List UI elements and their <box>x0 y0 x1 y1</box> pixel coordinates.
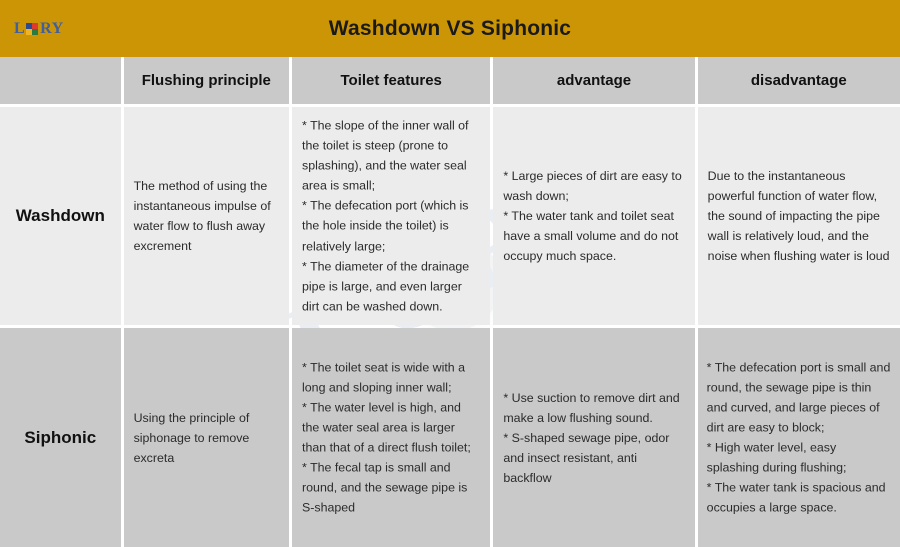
logo-text-right: RY <box>40 19 64 39</box>
row-siphonic-features: * The toilet seat is wide with a long an… <box>292 328 490 547</box>
lory-logo: L RY <box>14 19 64 39</box>
row-washdown-features: * The slope of the inner wall of the toi… <box>292 107 490 325</box>
row-siphonic-advantage: * Use suction to remove dirt and make a … <box>493 328 694 547</box>
row-washdown-principle: The method of using the instantaneous im… <box>124 107 289 325</box>
header-banner: Washdown VS Siphonic L RY <box>0 0 900 57</box>
comparison-table: Flushing principle Toilet features advan… <box>0 57 900 547</box>
table-header-cell-toilet-features: Toilet features <box>292 57 490 104</box>
table-header-cell-flushing-principle: Flushing principle <box>124 57 289 104</box>
table-header-cell-advantage: advantage <box>493 57 694 104</box>
logo-text-left: L <box>14 19 25 39</box>
table-header-cell-disadvantage: disadvantage <box>698 57 900 104</box>
row-washdown-advantage: * Large pieces of dirt are easy to wash … <box>493 107 694 325</box>
table-header-row: Flushing principle Toilet features advan… <box>0 57 900 104</box>
comparison-table-page: Washdown VS Siphonic L RY LORY Flushing … <box>0 0 900 547</box>
logo-mark-icon <box>26 23 39 36</box>
table-row: Washdown The method of using the instant… <box>0 107 900 325</box>
page-title: Washdown VS Siphonic <box>0 0 900 57</box>
row-siphonic-type: Siphonic <box>0 328 121 547</box>
table-header-cell-type <box>0 57 121 104</box>
table-row: Siphonic Using the principle of siphonag… <box>0 328 900 547</box>
row-washdown-disadvantage: Due to the instantaneous powerful functi… <box>698 107 900 325</box>
row-siphonic-principle: Using the principle of siphonage to remo… <box>124 328 289 547</box>
row-siphonic-disadvantage: * The defecation port is small and round… <box>698 328 900 547</box>
row-washdown-type: Washdown <box>0 107 121 325</box>
